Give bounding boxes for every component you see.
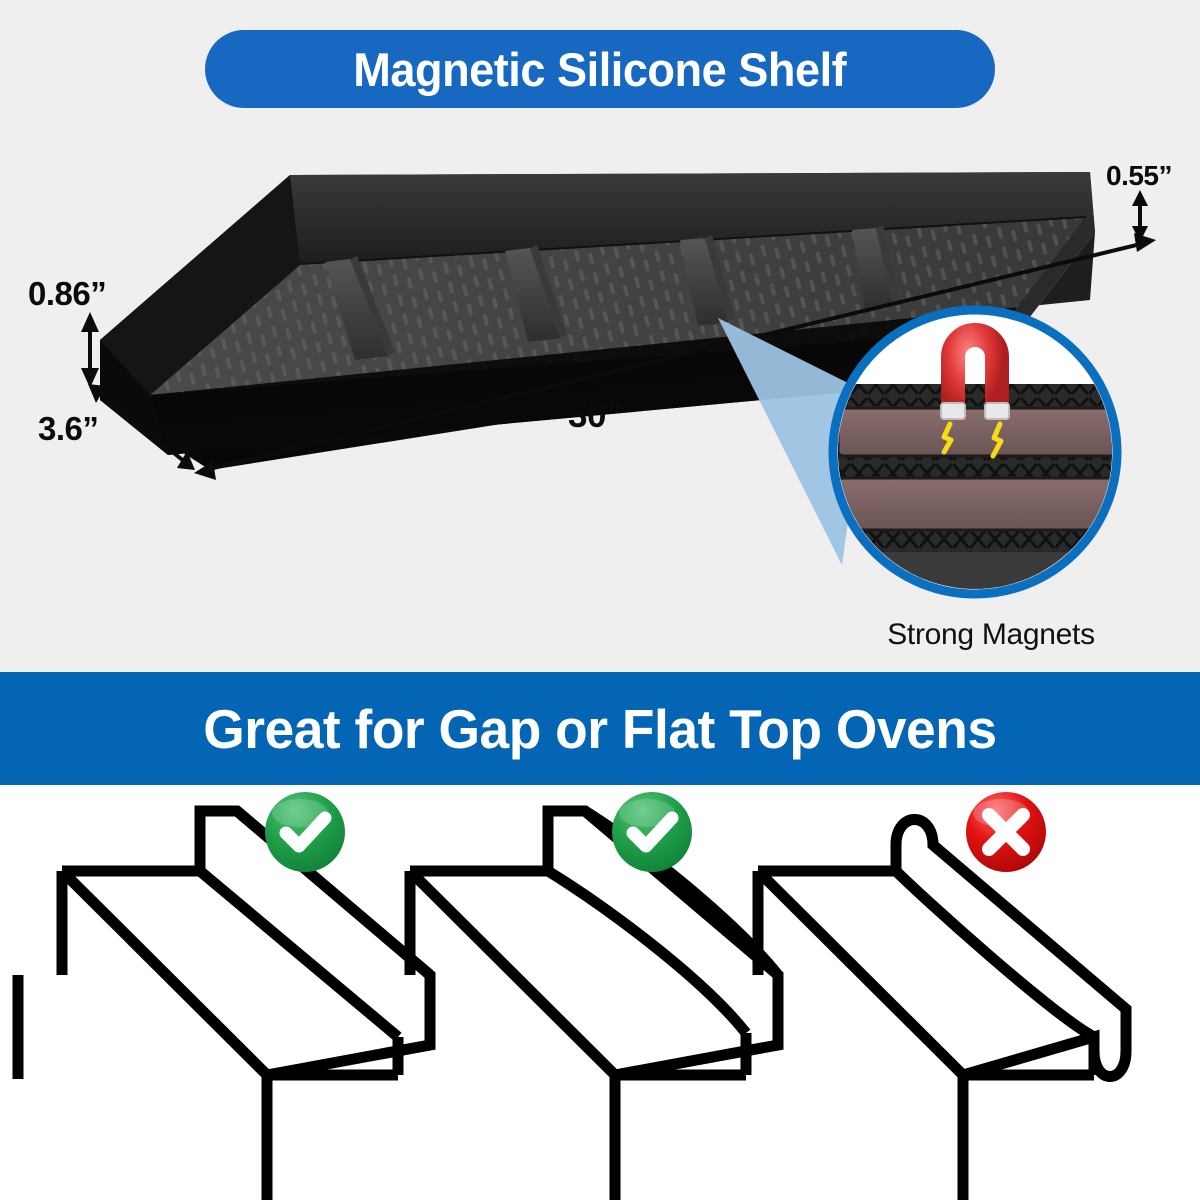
dimension-label-thickness: 0.55”	[1106, 160, 1172, 192]
product-illustration	[0, 0, 1200, 672]
dimension-label-depth: 3.6”	[38, 410, 98, 448]
badge-compatible-flat	[265, 792, 345, 872]
compatibility-banner-title: Great for Gap or Flat Top Ovens	[203, 697, 996, 761]
product-hero-section: Magnetic Silicone Shelf	[0, 0, 1200, 672]
badge-incompatible-rounded	[966, 792, 1046, 872]
compatibility-badges	[0, 785, 1200, 1200]
strong-magnets-caption: Strong Magnets	[866, 618, 1116, 652]
oven-compatibility-section	[0, 785, 1200, 1200]
compatibility-banner: Great for Gap or Flat Top Ovens	[0, 672, 1200, 785]
magnet-detail-circle	[820, 310, 1140, 596]
dimension-label-height: 0.86”	[28, 275, 106, 313]
dimension-label-length: 30”	[568, 396, 623, 436]
badge-compatible-curved	[612, 792, 692, 872]
